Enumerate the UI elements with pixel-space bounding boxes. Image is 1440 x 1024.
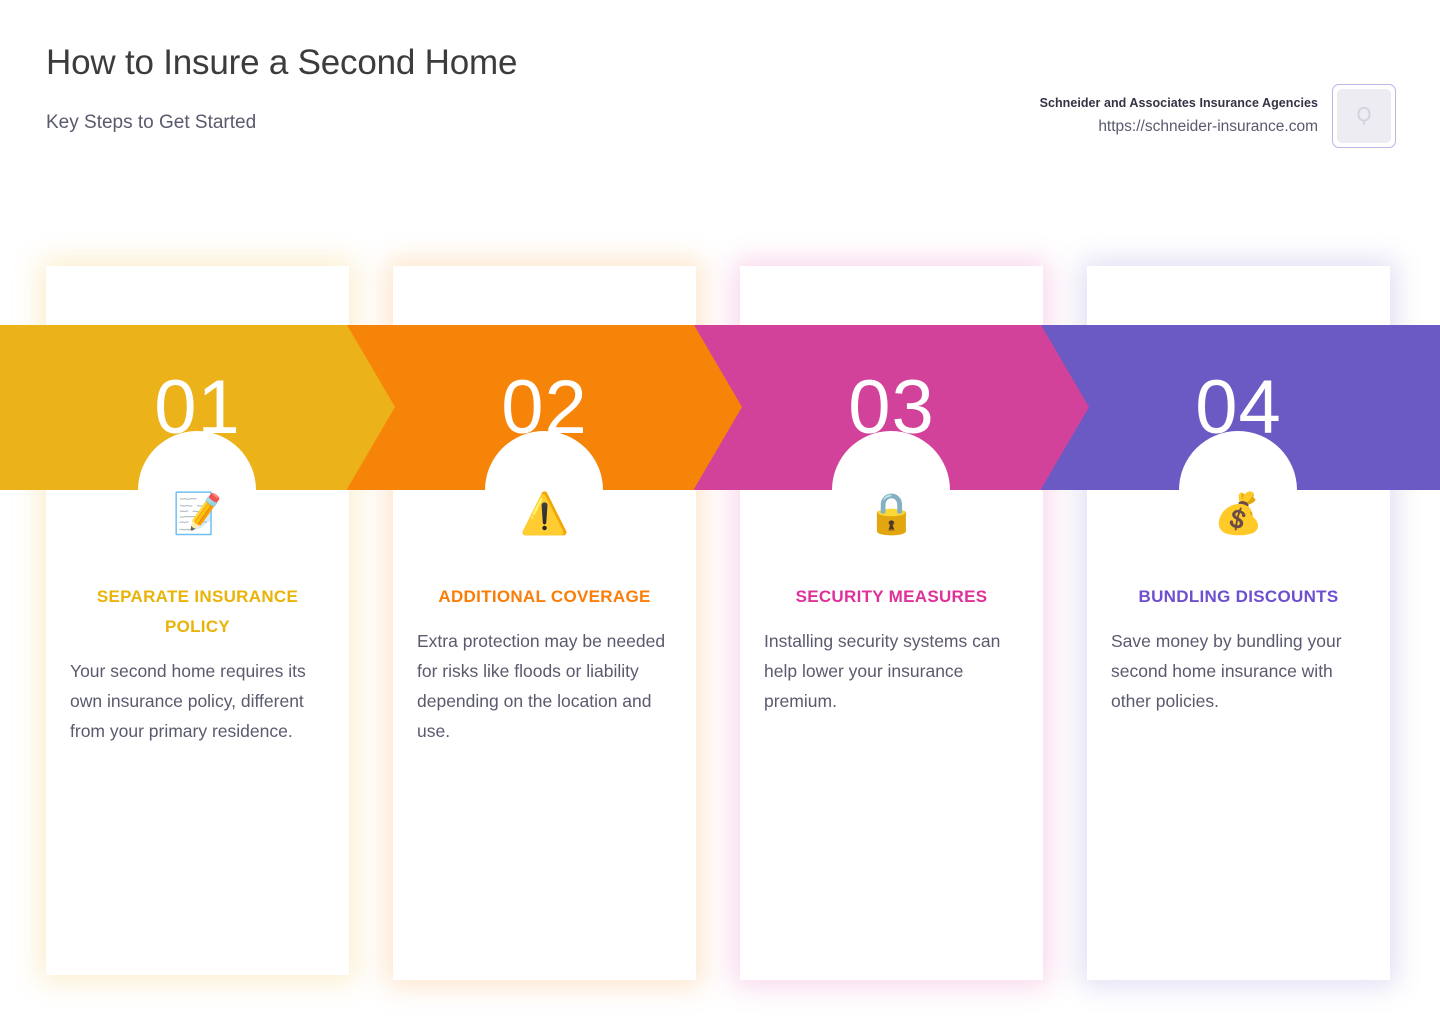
card-heading: SEPARATE INSURANCE POLICY [46,582,349,642]
step-card-2[interactable]: ⚠️ ADDITIONAL COVERAGE Extra protection … [393,266,696,980]
card-content: 📝 SEPARATE INSURANCE POLICY Your second … [46,490,349,746]
logo-inner [1337,89,1391,143]
money-bag-icon: 💰 [1087,490,1390,546]
card-content: ⚠️ ADDITIONAL COVERAGE Extra protection … [393,490,696,746]
infographic-page: How to Insure a Second Home Key Steps to… [0,0,1440,1024]
card-content: 🔒 SECURITY MEASURES Installing security … [740,490,1043,716]
warning-triangle-icon: ⚠️ [393,490,696,546]
card-heading: SECURITY MEASURES [740,582,1043,612]
card-body: Save money by bundling your second home … [1087,626,1390,716]
brand-block: Schneider and Associates Insurance Agenc… [1040,84,1396,148]
page-subtitle: Key Steps to Get Started [46,110,686,136]
lock-icon: 🔒 [740,490,1043,546]
card-heading: BUNDLING DISCOUNTS [1087,582,1390,612]
image-placeholder-icon [1353,105,1375,127]
steps-container: 📝 SEPARATE INSURANCE POLICY Your second … [0,266,1440,986]
brand-url[interactable]: https://schneider-insurance.com [1040,117,1318,137]
memo-pencil-icon: 📝 [46,490,349,546]
brand-logo-placeholder[interactable] [1332,84,1396,148]
card-body: Your second home requires its own insura… [46,656,349,746]
card-heading: ADDITIONAL COVERAGE [393,582,696,612]
page-title: How to Insure a Second Home [46,36,686,90]
step-card-4[interactable]: 💰 BUNDLING DISCOUNTS Save money by bundl… [1087,266,1390,980]
title-block: How to Insure a Second Home Key Steps to… [46,36,686,136]
brand-name: Schneider and Associates Insurance Agenc… [1040,94,1318,112]
brand-text: Schneider and Associates Insurance Agenc… [1040,84,1318,137]
step-card-1[interactable]: 📝 SEPARATE INSURANCE POLICY Your second … [46,266,349,975]
card-content: 💰 BUNDLING DISCOUNTS Save money by bundl… [1087,490,1390,716]
card-body: Extra protection may be needed for risks… [393,626,696,746]
step-card-3[interactable]: 🔒 SECURITY MEASURES Installing security … [740,266,1043,980]
header: How to Insure a Second Home Key Steps to… [0,0,1440,240]
card-body: Installing security systems can help low… [740,626,1043,716]
